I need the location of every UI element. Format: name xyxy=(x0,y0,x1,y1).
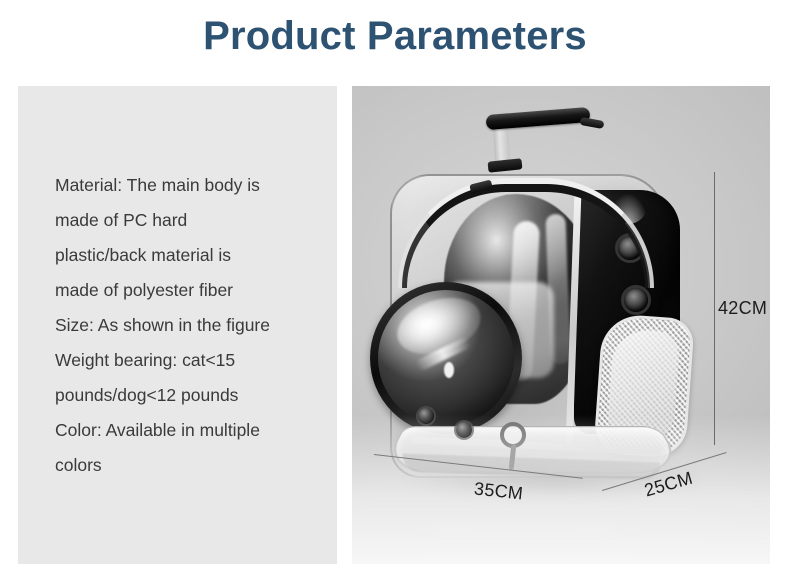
spec-line: Weight bearing: cat<15 xyxy=(55,343,325,378)
spec-line: Color: Available in multiple xyxy=(55,413,325,448)
spec-line: colors xyxy=(55,448,325,483)
spec-line: pounds/dog<12 pounds xyxy=(55,378,325,413)
ventilation-grommet-icon xyxy=(624,288,648,312)
spec-line: plastic/back material is xyxy=(55,238,325,273)
spec-line: Material: The main body is xyxy=(55,168,325,203)
page-title: Product Parameters xyxy=(0,8,790,64)
spec-line: Size: As shown in the figure xyxy=(55,308,325,343)
specifications-panel: Material: The main body is made of PC ha… xyxy=(18,86,337,564)
height-dimension-line xyxy=(714,172,715,445)
spec-line: made of polyester fiber xyxy=(55,273,325,308)
height-dimension-label: 42CM xyxy=(718,298,767,319)
dome-specular-spot xyxy=(444,362,454,378)
floor-gradient xyxy=(352,414,770,564)
top-handle xyxy=(486,107,591,130)
handle-clip xyxy=(488,158,523,172)
top-handle-tip xyxy=(579,117,604,129)
spec-line: made of PC hard xyxy=(55,203,325,238)
specifications-list: Material: The main body is made of PC ha… xyxy=(55,168,325,483)
product-image-panel: 42CM 35CM 25CM xyxy=(352,86,770,564)
